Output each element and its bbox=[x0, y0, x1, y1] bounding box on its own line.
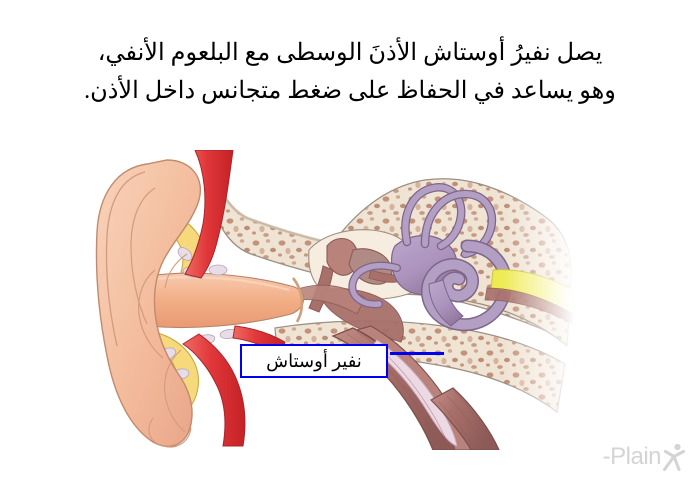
ear-anatomy-illustration bbox=[95, 150, 575, 450]
callout-label-eustachian-tube: نفير أوستاش bbox=[240, 344, 388, 378]
brand-logo: -Plain bbox=[603, 442, 688, 472]
ear-canal bbox=[147, 273, 304, 327]
callout-leader-line bbox=[390, 352, 444, 355]
callout-label-text: نفير أوستاش bbox=[266, 351, 362, 372]
brand-name-text: -Plain bbox=[603, 443, 661, 471]
edge-fade bbox=[505, 150, 575, 450]
caption-line-2: وهو يساعد في الحفاظ على ضغط متجانس داخل … bbox=[0, 72, 700, 110]
caption-line-1: يصل نفيرُ أوستاش الأذنَ الوسطى مع البلعو… bbox=[0, 34, 700, 72]
page-caption: يصل نفيرُ أوستاش الأذنَ الوسطى مع البلعو… bbox=[0, 34, 700, 110]
x-figure-icon bbox=[662, 443, 688, 471]
